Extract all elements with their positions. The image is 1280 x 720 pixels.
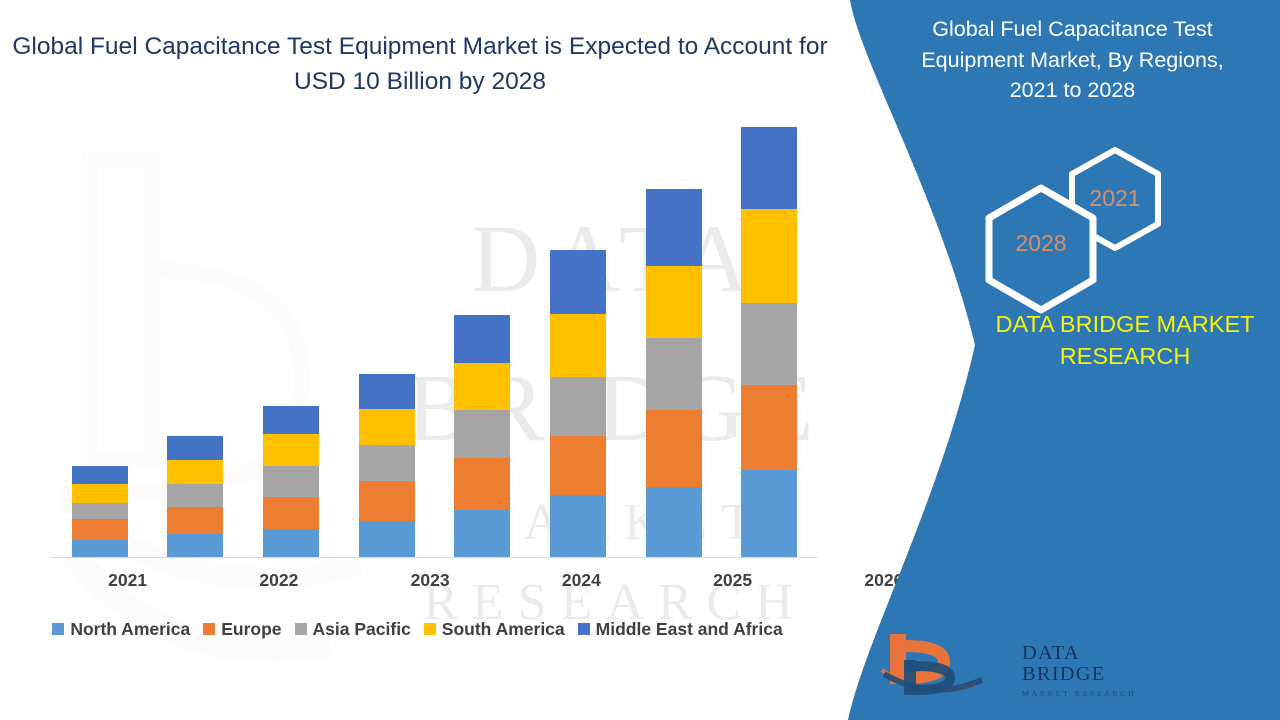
chart-bar-segment	[359, 445, 415, 481]
logo-wordmark-main: DATA BRIDGE	[1022, 643, 1142, 684]
chart-bar	[550, 250, 606, 558]
chart-legend-swatch	[424, 623, 436, 635]
chart-bar-segment	[263, 529, 319, 558]
chart-bar-segment	[550, 250, 606, 313]
chart-bar	[646, 189, 702, 558]
chart-bar-segment	[646, 266, 702, 337]
chart-bar-segment	[646, 189, 702, 266]
chart-bar-segment	[741, 303, 797, 385]
chart-x-axis	[52, 557, 817, 558]
chart-bar-segment	[550, 495, 606, 558]
chart-bar	[359, 374, 415, 558]
chart-bar-segment	[263, 434, 319, 466]
logo-wordmark-sub: MARKET RESEARCH	[1022, 689, 1142, 698]
chart-x-tick-label: 2025	[705, 570, 761, 591]
panel-title-line2: Equipment Market, By Regions,	[865, 45, 1280, 76]
chart-x-tick-labels: 20212022202320242025202620272028	[52, 565, 1262, 595]
chart-bar-segment	[359, 521, 415, 558]
brand-name-line1: DATA BRIDGE MARKET	[965, 308, 1280, 340]
panel-title: Global Fuel Capacitance Test Equipment M…	[865, 14, 1280, 106]
chart-legend-item[interactable]: Europe	[203, 619, 281, 640]
chart-bar-segment	[454, 458, 510, 510]
chart-x-tick-label: 2021	[100, 570, 156, 591]
chart-bar-segment	[359, 409, 415, 445]
chart-bar-segment	[550, 436, 606, 495]
chart-plot-area	[52, 120, 817, 558]
chart-bar-segment	[167, 436, 223, 460]
page-title-line2: USD 10 Billion by 2028	[10, 65, 830, 100]
chart-bar-segment	[454, 510, 510, 558]
chart-x-tick-label: 2024	[553, 570, 609, 591]
chart-bar-segment	[646, 338, 702, 411]
chart-bar-segment	[550, 314, 606, 377]
chart-legend-item[interactable]: South America	[424, 619, 565, 640]
chart-bar-segment	[741, 209, 797, 304]
chart-bar-segment	[167, 507, 223, 534]
chart-legend-label: Europe	[221, 619, 281, 640]
chart-legend-swatch	[52, 623, 64, 635]
chart-x-tick-label: 2027	[1007, 570, 1063, 591]
page-title-line1: Global Fuel Capacitance Test Equipment M…	[10, 30, 830, 65]
chart-x-tick-label: 2022	[251, 570, 307, 591]
brand-name-line2: RESEARCH	[965, 340, 1280, 372]
panel-title-line3: 2021 to 2028	[865, 75, 1280, 106]
panel-title-line1: Global Fuel Capacitance Test	[865, 14, 1280, 45]
chart-legend-item[interactable]: Middle East and Africa	[578, 619, 783, 640]
chart-bar	[454, 315, 510, 558]
chart-legend: North AmericaEuropeAsia PacificSouth Ame…	[0, 615, 835, 643]
chart-bar	[167, 436, 223, 558]
chart-bar-segment	[646, 410, 702, 486]
brand-name: DATA BRIDGE MARKET RESEARCH	[965, 308, 1280, 373]
chart-legend-label: South America	[442, 619, 565, 640]
chart-bar-segment	[741, 127, 797, 209]
chart-legend-label: Middle East and Africa	[596, 619, 783, 640]
stacked-bar-chart	[0, 120, 835, 565]
chart-bar-segment	[359, 374, 415, 410]
page-title: Global Fuel Capacitance Test Equipment M…	[10, 30, 830, 100]
hexagon-2028-label: 2028	[980, 230, 1102, 257]
chart-legend-swatch	[203, 623, 215, 635]
chart-legend-item[interactable]: Asia Pacific	[295, 619, 411, 640]
hexagon-group: 2021 2028	[975, 145, 1195, 295]
chart-bar-segment	[167, 484, 223, 507]
chart-bar-segment	[454, 363, 510, 410]
chart-x-tick-label: 2028	[1158, 570, 1214, 591]
chart-bar-segment	[72, 484, 128, 502]
chart-legend-item[interactable]: North America	[52, 619, 190, 640]
chart-bar-segment	[454, 315, 510, 363]
chart-legend-label: North America	[70, 619, 190, 640]
chart-bar-segment	[263, 406, 319, 434]
chart-bar-segment	[454, 410, 510, 457]
chart-bar-segment	[72, 503, 128, 519]
chart-x-tick-label: 2023	[402, 570, 458, 591]
chart-bar-segment	[646, 487, 702, 558]
chart-bar-segment	[550, 377, 606, 436]
logo-wordmark: DATA BRIDGE MARKET RESEARCH	[1022, 643, 1142, 698]
infographic-canvas: DATA BRIDGE MARKET RESEARCH Global Fuel …	[0, 0, 1280, 720]
chart-bar-segment	[359, 481, 415, 521]
chart-x-tick-label: 2026	[856, 570, 912, 591]
chart-bar-segment	[167, 534, 223, 558]
chart-bar-segment	[741, 385, 797, 470]
chart-bar-segment	[263, 466, 319, 497]
chart-bar	[741, 127, 797, 558]
chart-bar-segment	[72, 540, 128, 558]
chart-bar-segment	[167, 460, 223, 484]
chart-bar-segment	[741, 470, 797, 558]
chart-legend-swatch	[295, 623, 307, 635]
chart-bar-segment	[72, 466, 128, 484]
chart-legend-swatch	[578, 623, 590, 635]
chart-bar	[263, 406, 319, 558]
chart-bar	[72, 466, 128, 558]
chart-bar-segment	[72, 519, 128, 540]
chart-bar-segment	[263, 497, 319, 529]
chart-legend-label: Asia Pacific	[313, 619, 411, 640]
